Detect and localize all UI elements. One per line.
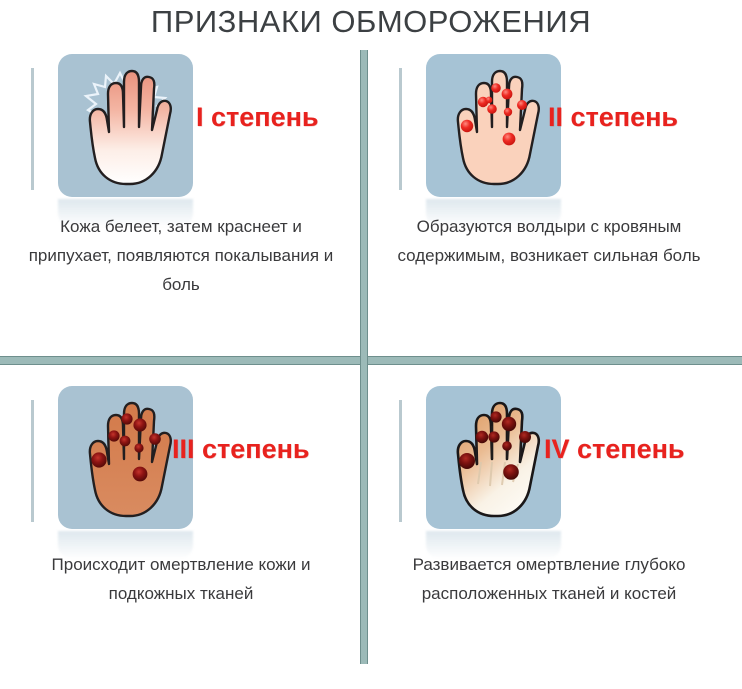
quadrant-4-header: IV степень (368, 378, 728, 538)
page-title: ПРИЗНАКИ ОБМОРОЖЕНИЯ (0, 4, 742, 40)
quadrant-1-header: I степень (0, 46, 360, 206)
degree-caption-2: Образуются волдыри с кровяным содержимым… (386, 212, 712, 270)
hand-with-red-blisters-icon (426, 54, 561, 197)
degree-label-4: IV степень (544, 434, 685, 465)
horizontal-divider (0, 356, 742, 365)
quadrant-degree-3: III степень Происходит омертвление кожи … (0, 378, 360, 678)
hand-illustration-svg (58, 54, 193, 197)
quadrant-degree-4: IV степень Развивается омертвление глубо… (368, 378, 728, 678)
hand-deep-necrosis-bone-icon (426, 386, 561, 529)
degree-label-1: I степень (196, 102, 319, 133)
degree-caption-1: Кожа белеет, затем краснеет и припухает,… (18, 212, 344, 299)
hand-pale-reddening-with-frost-rays-icon (58, 54, 193, 197)
quadrant-3-header: III степень (0, 378, 360, 538)
hand-illustration-svg (426, 54, 561, 197)
quadrant-2-header: II степень (368, 46, 728, 206)
quadrant-degree-1: I степень Кожа белеет, затем краснеет и … (0, 46, 360, 346)
hand-illustration-svg (426, 386, 561, 529)
accent-bar (399, 68, 402, 190)
accent-bar (31, 68, 34, 190)
degree-caption-3: Происходит омертвление кожи и подкожных … (18, 550, 344, 608)
degree-label-2: II степень (548, 102, 678, 133)
accent-bar (399, 400, 402, 522)
accent-bar (31, 400, 34, 522)
degree-caption-4: Развивается омертвление глубоко располож… (386, 550, 712, 608)
degree-label-3: III степень (172, 434, 310, 465)
vertical-divider (360, 50, 368, 664)
quadrant-degree-2: II степень Образуются волдыри с кровяным… (368, 46, 728, 346)
